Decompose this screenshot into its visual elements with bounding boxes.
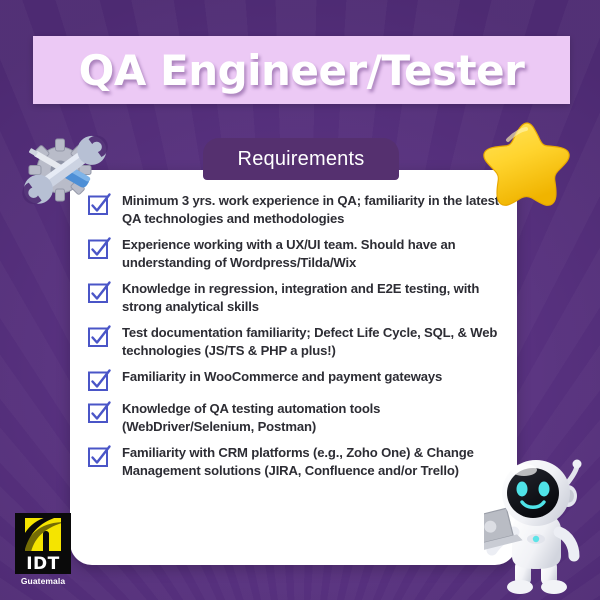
requirement-text: Knowledge in regression, integration and… [122,280,503,315]
job-posting-poster: QA Engineer/Tester [0,0,600,600]
requirement-text: Familiarity with CRM platforms (e.g., Zo… [122,444,503,479]
list-item: Knowledge in regression, integration and… [88,280,503,315]
idt-logo-mark [15,513,71,555]
idt-logo: IDT Guatemala [12,513,74,585]
checkbox-checked-icon [88,402,109,423]
idt-logo-country: Guatemala [12,576,74,586]
list-item: Knowledge of QA testing automation tools… [88,400,503,435]
list-item: Test documentation familiarity; Defect L… [88,324,503,359]
requirements-tab: Requirements [203,138,399,180]
checkbox-checked-icon [88,282,109,303]
list-item: Familiarity in WooCommerce and payment g… [88,368,503,391]
list-item: Familiarity with CRM platforms (e.g., Zo… [88,444,503,479]
requirement-text: Experience working with a UX/UI team. Sh… [122,236,503,271]
requirement-text: Test documentation familiarity; Defect L… [122,324,503,359]
tools-icon [14,126,114,212]
list-item: Minimum 3 yrs. work experience in QA; fa… [88,192,503,227]
page-title: QA Engineer/Tester [79,46,525,95]
requirements-tab-label: Requirements [238,148,365,171]
requirements-list: Minimum 3 yrs. work experience in QA; fa… [88,192,503,479]
requirement-text: Minimum 3 yrs. work experience in QA; fa… [122,192,503,227]
title-banner: QA Engineer/Tester [33,36,570,104]
requirement-text: Knowledge of QA testing automation tools… [122,400,503,435]
robot-mascot-icon [484,452,596,600]
checkbox-checked-icon [88,370,109,391]
checkbox-checked-icon [88,238,109,259]
checkbox-checked-icon [88,326,109,347]
star-icon [478,118,576,210]
requirement-text: Familiarity in WooCommerce and payment g… [122,368,442,386]
list-item: Experience working with a UX/UI team. Sh… [88,236,503,271]
checkbox-checked-icon [88,446,109,467]
idt-logo-text: IDT [15,555,71,574]
